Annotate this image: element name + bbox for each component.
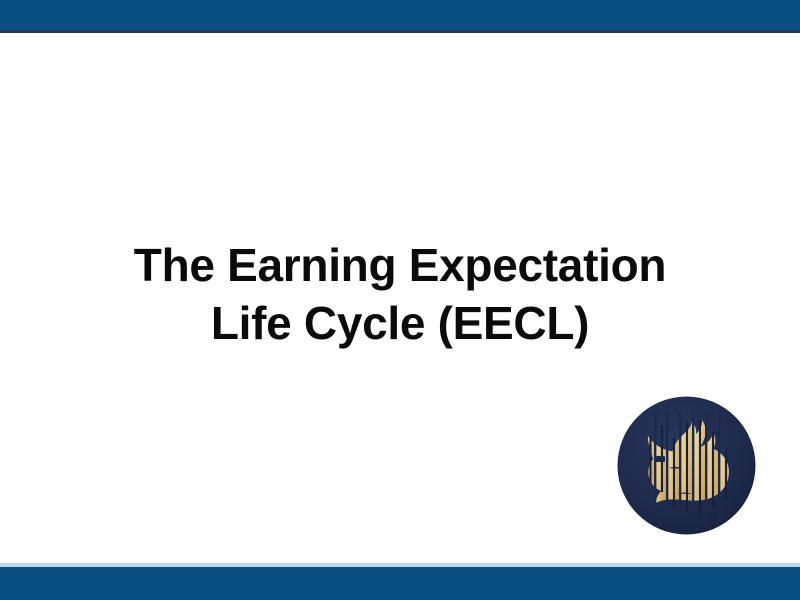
page-title-line-2: Life Cycle (EECL) — [40, 294, 760, 352]
page-title-line-1: The Earning Expectation — [40, 236, 760, 294]
page-title: The Earning Expectation Life Cycle (EECL… — [40, 236, 760, 352]
top-band — [0, 0, 800, 30]
title-slide: The Earning Expectation Life Cycle (EECL… — [0, 0, 800, 600]
bottom-band — [0, 567, 800, 600]
company-logo — [617, 396, 756, 535]
top-band-rule — [0, 30, 800, 33]
